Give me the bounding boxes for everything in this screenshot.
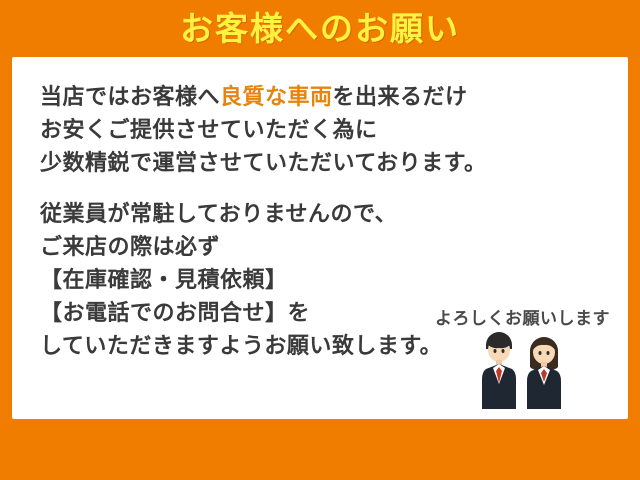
paragraph-gap [40, 180, 600, 198]
staff-illustration-icon [474, 329, 570, 411]
message-line: 【在庫確認・見積依頼】 [40, 264, 600, 297]
page-title: お客様へのお願い [0, 8, 640, 50]
message-line: 従業員が常駐しておりませんので、 [40, 198, 600, 231]
advertisement-banner: お客様へのお願い 当店ではお客様へ良質な車両を出来るだけ お安くご提供させていた… [0, 0, 640, 480]
message-line: お安くご提供させていただく為に [40, 114, 600, 147]
female-staff-icon [527, 337, 561, 409]
message-line: 少数精鋭で運営させていただいております。 [40, 147, 600, 180]
handwritten-note: よろしくお願いします [435, 304, 610, 329]
message-line: ご来店の際は必ず [40, 231, 600, 264]
message-segment-highlight: 良質な車両 [220, 85, 333, 110]
message-line: 当店ではお客様へ良質な車両を出来るだけ [40, 81, 600, 114]
message-segment: 当店ではお客様へ [40, 85, 220, 110]
male-staff-icon [482, 332, 516, 409]
message-segment: を出来るだけ [333, 85, 468, 110]
message-panel: 当店ではお客様へ良質な車両を出来るだけ お安くご提供させていただく為に 少数精鋭… [12, 57, 628, 419]
footer-bar: オートライフ AUTO LIFE TEL:025-256-8198 [0, 419, 640, 480]
